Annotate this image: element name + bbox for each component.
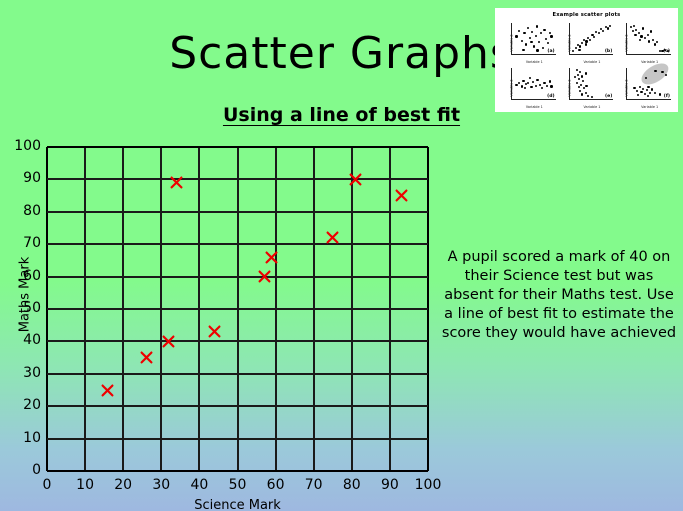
x-axis-label: Science Mark: [47, 498, 428, 511]
example-panel-d-tag: (d): [547, 94, 555, 99]
example-panel-c-xlabel: Variable 1: [626, 60, 673, 64]
gridline-horizontal: [47, 211, 428, 213]
example-panel-c-tag: (c): [663, 49, 670, 54]
example-panel-c: (c) Variable 1 Variable 2: [617, 21, 673, 64]
gridline-horizontal: [47, 470, 428, 472]
gridline-horizontal: [47, 373, 428, 375]
example-panel-d: (d) Variable 1 Variable 2: [502, 66, 558, 109]
plot-area: [47, 147, 428, 471]
example-panel-b: (b) Variable 1 Variable 2: [560, 21, 616, 64]
example-panel-d-ylabel: Variable 2: [509, 79, 513, 96]
gridline-horizontal: [47, 243, 428, 245]
data-point-marker: [326, 231, 339, 244]
gridline-horizontal: [47, 438, 428, 440]
example-panel-f-tag: (f): [664, 94, 670, 99]
x-tick-label: 80: [332, 477, 372, 493]
example-panel-b-tag: (b): [605, 49, 613, 54]
example-panel-c-ylabel: Variable 2: [625, 34, 629, 51]
question-text: A pupil scored a mark of 40 on their Sci…: [440, 248, 678, 343]
y-tick-label: 40: [3, 332, 41, 348]
y-tick-label: 20: [3, 397, 41, 413]
example-panel-b-xlabel: Variable 1: [569, 60, 616, 64]
gridline-horizontal: [47, 276, 428, 278]
example-panel-f-ylabel: Variable 2: [625, 79, 629, 96]
x-tick-label: 70: [294, 477, 334, 493]
y-tick-label: 30: [3, 365, 41, 381]
example-panel-e-ylabel: Variable 2: [567, 79, 571, 96]
example-panel-a-xlabel: Variable 1: [511, 60, 558, 64]
data-point-marker: [162, 335, 175, 348]
x-tick-label: 60: [256, 477, 296, 493]
example-panel-a-tag: (a): [547, 49, 554, 54]
example-panel-b-ylabel: Variable 2: [567, 34, 571, 51]
gridline-horizontal: [47, 178, 428, 180]
x-tick-label: 100: [408, 477, 448, 493]
example-scatter-plots-image: Example scatter plots (a) Variab: [495, 8, 678, 112]
data-point-marker: [208, 325, 221, 338]
y-tick-label: 60: [3, 268, 41, 284]
data-point-marker: [265, 251, 278, 264]
data-point-marker: [101, 384, 114, 397]
scatter-chart: Science Mark Maths Mark 0102030405060708…: [47, 147, 428, 471]
example-panel-a-ylabel: Variable 2: [509, 34, 513, 51]
y-tick-label: 100: [3, 138, 41, 154]
gridline-horizontal: [47, 405, 428, 407]
y-tick-label: 70: [3, 235, 41, 251]
example-panel-f: (f) Variable 1 Variable 2: [617, 66, 673, 109]
example-panel-d-xlabel: Variable 1: [511, 105, 558, 109]
y-tick-label: 90: [3, 170, 41, 186]
example-panel-a: (a) Variable 1 Variable 2: [502, 21, 558, 64]
gridline-horizontal: [47, 340, 428, 342]
x-tick-label: 90: [370, 477, 410, 493]
x-tick-label: 30: [141, 477, 181, 493]
data-point-marker: [140, 351, 153, 364]
y-tick-label: 80: [3, 203, 41, 219]
x-tick-label: 10: [65, 477, 105, 493]
example-plots-grid: (a) Variable 1 Variable 2 (b): [502, 21, 673, 109]
example-panel-e-xlabel: Variable 1: [569, 105, 616, 109]
data-point-marker: [395, 189, 408, 202]
y-tick-label: 50: [3, 300, 41, 316]
slide-canvas: Scatter Graphs Using a line of best fit …: [0, 0, 683, 511]
y-tick-label: 0: [3, 462, 41, 478]
x-tick-label: 50: [218, 477, 258, 493]
y-tick-label: 10: [3, 430, 41, 446]
example-panel-f-xlabel: Variable 1: [626, 105, 673, 109]
data-point-marker: [258, 270, 271, 283]
example-plots-title: Example scatter plots: [496, 12, 677, 18]
x-tick-label: 20: [103, 477, 143, 493]
x-tick-label: 0: [27, 477, 67, 493]
example-panel-e: (e) Variable 1 Variable 2: [560, 66, 616, 109]
gridline-horizontal: [47, 308, 428, 310]
data-point-marker: [170, 176, 183, 189]
x-tick-label: 40: [179, 477, 219, 493]
data-point-marker: [349, 173, 362, 186]
gridline-horizontal: [47, 146, 428, 148]
example-panel-e-tag: (e): [605, 94, 612, 99]
